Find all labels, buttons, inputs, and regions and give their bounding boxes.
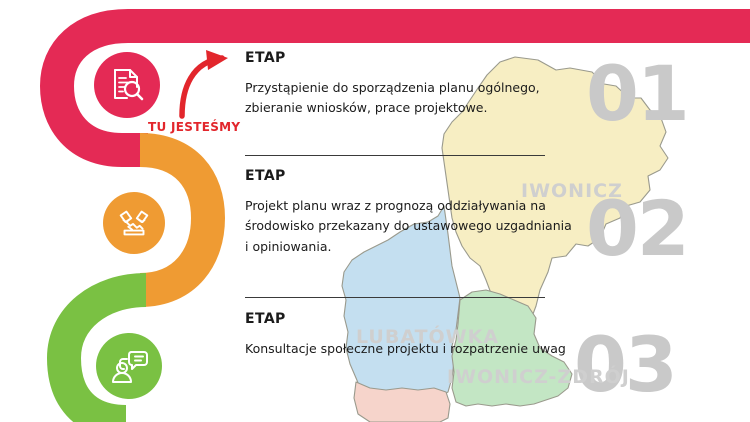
stage-icon-badge-2[interactable] — [103, 192, 165, 254]
handshake-icon — [115, 204, 153, 242]
here-we-are-label: TU JESTEŚMY — [148, 120, 240, 134]
stage-icon-badge-1[interactable] — [94, 52, 160, 118]
curved-arrow-icon — [176, 48, 238, 120]
document-search-icon — [107, 65, 147, 105]
infographic-root: 01 02 03 IWONICZ LUBATÓWKA IWONICZ-ZDRÓJ — [0, 0, 750, 422]
person-speech-bubbles-icon — [109, 346, 149, 386]
stage-icon-badge-3[interactable] — [96, 333, 162, 399]
